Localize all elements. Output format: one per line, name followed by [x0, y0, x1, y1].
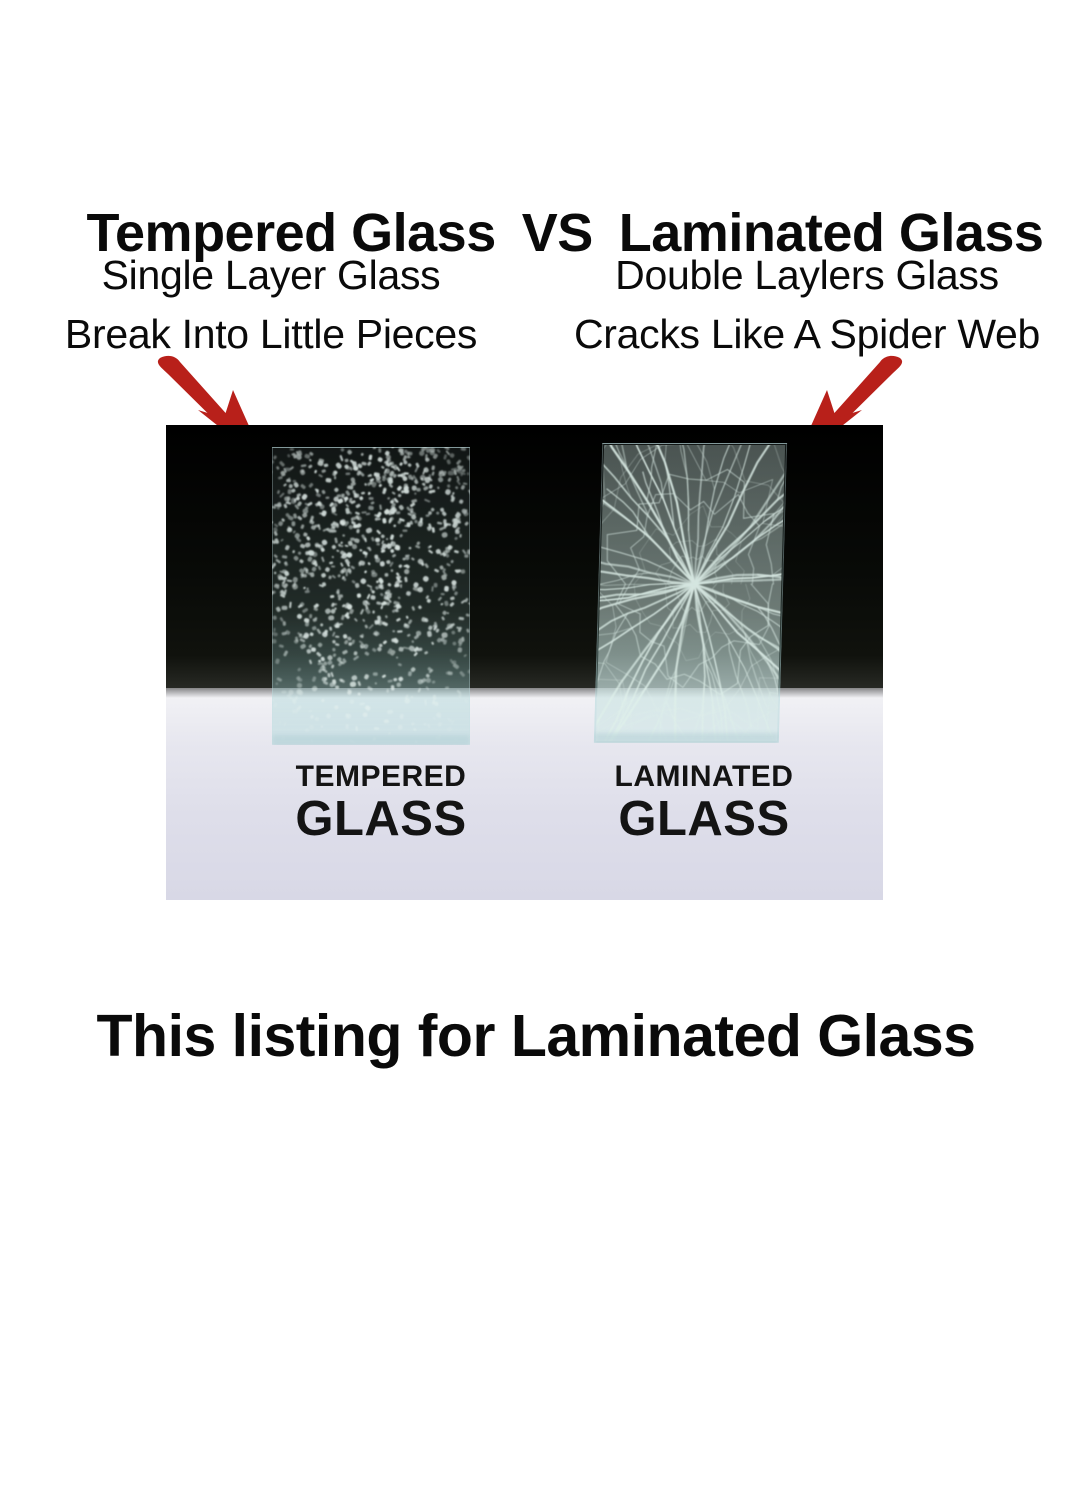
photo-label-tempered: TEMPERED GLASS: [221, 762, 541, 844]
infographic-page: Tempered GlassVSLaminated Glass Single L…: [0, 0, 1072, 1500]
photo-label-laminated-bottom: GLASS: [544, 795, 864, 844]
photo-label-laminated-top: LAMINATED: [544, 762, 864, 792]
laminated-slab-reflection: [594, 733, 779, 743]
tempered-glass-slab: [272, 447, 470, 745]
tempered-slab-reflection: [272, 735, 470, 745]
caption-row: Single Layer Glass Break Into Little Pie…: [0, 246, 1072, 365]
caption-tempered-line2: Break Into Little Pieces: [6, 305, 536, 364]
tempered-fragment-pattern: [272, 447, 470, 745]
caption-laminated: Double Laylers Glass Cracks Like A Spide…: [536, 246, 1072, 365]
comparison-photo: TEMPERED GLASS LAMINATED GLASS: [166, 425, 883, 900]
laminated-crack-pattern: [594, 443, 787, 743]
caption-laminated-line2: Cracks Like A Spider Web: [542, 305, 1072, 364]
caption-tempered: Single Layer Glass Break Into Little Pie…: [0, 246, 536, 365]
photo-label-laminated: LAMINATED GLASS: [544, 762, 864, 844]
listing-note: This listing for Laminated Glass: [0, 1002, 1072, 1070]
caption-tempered-line1: Single Layer Glass: [6, 246, 536, 305]
caption-laminated-line1: Double Laylers Glass: [542, 246, 1072, 305]
laminated-glass-slab: [594, 443, 787, 743]
photo-label-tempered-top: TEMPERED: [221, 762, 541, 792]
photo-label-tempered-bottom: GLASS: [221, 795, 541, 844]
